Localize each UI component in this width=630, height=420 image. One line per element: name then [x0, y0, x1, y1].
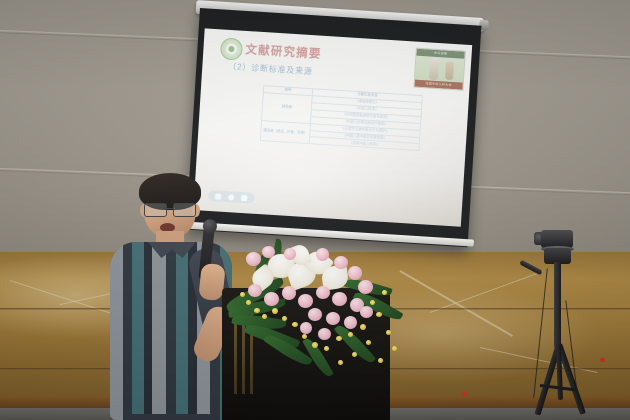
institute-seal-logo	[220, 37, 243, 60]
eyeglasses	[143, 203, 197, 215]
microphone-head	[202, 218, 217, 233]
diagnostic-criteria-table: 病种 诊断标准来源 肺系病 《诸病源候论》 《中医儿科学》 《中药新药临床研究指…	[260, 85, 423, 151]
video-subject	[445, 62, 454, 80]
table-group-label: 肺系病	[262, 93, 313, 124]
video-bottom-caption: 全国中医儿科大会	[414, 80, 462, 90]
speaker	[108, 178, 234, 420]
live-video-thumbnail[interactable]: 会议直播 全国中医儿科大会	[413, 48, 465, 91]
video-top-caption: 会议直播	[416, 49, 464, 59]
presentation-slide: 文献研究摘要 （2）诊断标准及来源 病种 诊断标准来源 肺系病 《诸病源候论》 …	[193, 28, 472, 226]
floor-marker	[462, 392, 467, 396]
video-subject	[429, 58, 439, 81]
slide-title: 文献研究摘要	[245, 41, 322, 62]
conference-room-photo: 文献研究摘要 （2）诊断标准及来源 病种 诊断标准来源 肺系病 《诸病源候论》 …	[0, 0, 630, 420]
floor-marker	[600, 358, 605, 362]
slide-subtitle: （2）诊断标准及来源	[228, 61, 313, 77]
next-button-icon[interactable]	[241, 194, 247, 200]
speaker-trousers	[126, 414, 212, 420]
table-group-label: 脾系病（泄泻、厌食、积滞）	[260, 120, 310, 144]
screen-surface: 文献研究摘要 （2）诊断标准及来源 病种 诊断标准来源 肺系病 《诸病源候论》 …	[193, 28, 472, 226]
tripod-center-column	[554, 262, 561, 348]
